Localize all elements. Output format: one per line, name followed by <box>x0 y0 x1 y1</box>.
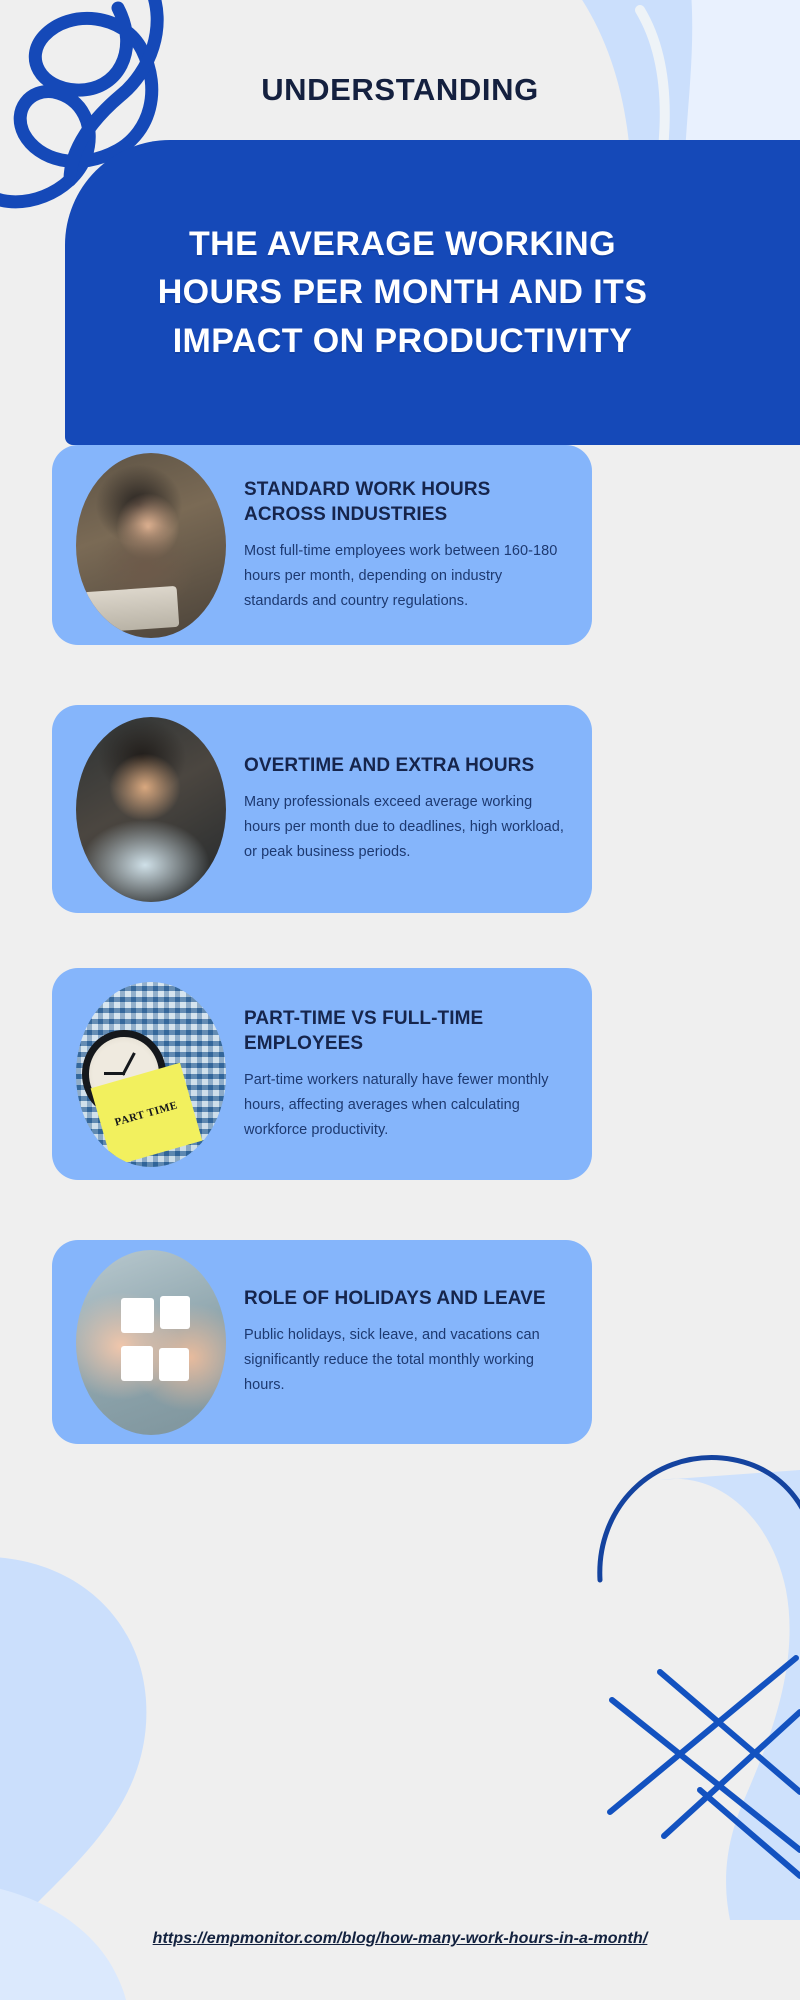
title-block: THE AVERAGE WORKING HOURS PER MONTH AND … <box>65 140 800 445</box>
card-3-title: PART-TIME VS FULL-TIME EMPLOYEES <box>244 1006 570 1056</box>
card-1-description: Most full-time employees work between 16… <box>244 539 570 614</box>
card-4-body: ROLE OF HOLIDAYS AND LEAVE Public holida… <box>240 1286 570 1398</box>
page-title: THE AVERAGE WORKING HOURS PER MONTH AND … <box>128 220 738 365</box>
card-2-body: OVERTIME AND EXTRA HOURS Many profession… <box>240 753 570 865</box>
info-card-3[interactable]: PART TIME PART-TIME VS FULL-TIME EMPLOYE… <box>52 968 592 1180</box>
page-kicker: UNDERSTANDING <box>0 72 800 108</box>
bottom-right-blob-icon <box>660 1470 800 1920</box>
info-card-1[interactable]: STANDARD WORK HOURS ACROSS INDUSTRIES Mo… <box>52 445 592 645</box>
card-2-photo <box>76 717 226 902</box>
infographic-page: UNDERSTANDING THE AVERAGE WORKING HOURS … <box>0 0 800 2000</box>
card-2-description: Many professionals exceed average workin… <box>244 790 570 865</box>
card-4-photo <box>76 1250 226 1435</box>
card-4-description: Public holidays, sick leave, and vacatio… <box>244 1323 570 1398</box>
card-4-title: ROLE OF HOLIDAYS AND LEAVE <box>244 1286 570 1311</box>
card-1-photo <box>76 453 226 638</box>
info-card-2[interactable]: OVERTIME AND EXTRA HOURS Many profession… <box>52 705 592 913</box>
card-1-title: STANDARD WORK HOURS ACROSS INDUSTRIES <box>244 477 570 527</box>
source-url-link[interactable]: https://empmonitor.com/blog/how-many-wor… <box>0 1930 800 1948</box>
card-2-title: OVERTIME AND EXTRA HOURS <box>244 753 570 778</box>
card-3-photo: PART TIME <box>76 982 226 1167</box>
card-3-description: Part-time workers naturally have fewer m… <box>244 1068 570 1143</box>
info-card-4[interactable]: ROLE OF HOLIDAYS AND LEAVE Public holida… <box>52 1240 592 1444</box>
card-1-body: STANDARD WORK HOURS ACROSS INDUSTRIES Mo… <box>240 477 570 614</box>
card-3-body: PART-TIME VS FULL-TIME EMPLOYEES Part-ti… <box>240 1006 570 1143</box>
